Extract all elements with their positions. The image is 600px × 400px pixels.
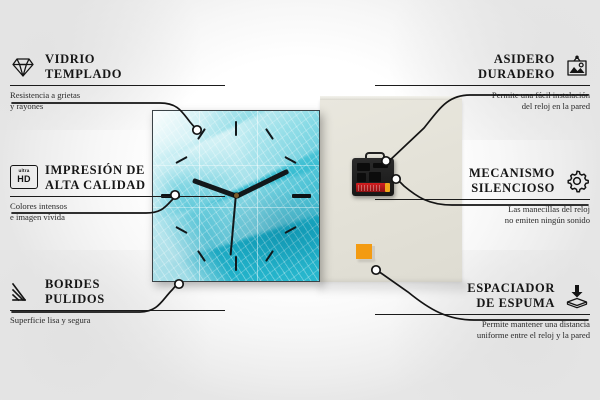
feature-subtitle: Resistencia a grietas y rayones bbox=[10, 90, 225, 112]
clock-center-hub bbox=[234, 193, 239, 198]
clock-marker-12 bbox=[235, 121, 237, 136]
hd-badge-large: HD bbox=[17, 175, 31, 184]
feature-title: IMPRESIÓN DE ALTA CALIDAD bbox=[45, 163, 146, 192]
clock-marker-3 bbox=[292, 194, 311, 198]
feature-callout-impresion-alta-calidad: ultra HD IMPRESIÓN DE ALTA CALIDAD Color… bbox=[10, 163, 225, 223]
foam-spacer-pad bbox=[356, 244, 374, 261]
feature-subtitle: Permite mantener una distancia uniforme … bbox=[375, 319, 590, 341]
callout-rule bbox=[10, 310, 225, 311]
feature-title: BORDES PULIDOS bbox=[45, 277, 105, 306]
callout-rule bbox=[375, 85, 590, 86]
feature-callout-vidrio-templado: VIDRIO TEMPLADO Resistencia a grietas y … bbox=[10, 52, 225, 112]
feature-subtitle: Superficie lisa y segura bbox=[10, 315, 225, 326]
feature-callout-bordes-pulidos: BORDES PULIDOS Superficie lisa y segura bbox=[10, 277, 225, 326]
feature-title: MECANISMO SILENCIOSO bbox=[469, 166, 555, 195]
callout-rule bbox=[10, 196, 225, 197]
clock-marker-6 bbox=[235, 256, 237, 271]
callout-rule bbox=[375, 314, 590, 315]
feature-subtitle: Colores intensos e imagen vívida bbox=[10, 201, 225, 223]
gear-icon bbox=[564, 168, 590, 194]
feature-title: ASIDERO DURADERO bbox=[478, 52, 555, 81]
callout-rule bbox=[10, 85, 225, 86]
feature-subtitle: Las manecillas del reloj no emiten ningú… bbox=[375, 204, 590, 226]
diamond-icon bbox=[10, 54, 36, 80]
feature-callout-asidero-duradero: ASIDERO DURADERO Permite una fácil insta… bbox=[375, 52, 590, 112]
feature-title: VIDRIO TEMPLADO bbox=[45, 52, 122, 81]
picture-hanger-icon bbox=[564, 54, 590, 80]
feature-callout-mecanismo-silencioso: MECANISMO SILENCIOSO Las manecillas del … bbox=[375, 166, 590, 226]
feature-callout-espaciador-de-espuma: ESPACIADOR DE ESPUMA Permite mantener un… bbox=[375, 281, 590, 341]
polished-edges-icon bbox=[10, 279, 36, 305]
infographic-stage: VIDRIO TEMPLADO Resistencia a grietas y … bbox=[0, 0, 600, 400]
feature-title: ESPACIADOR DE ESPUMA bbox=[467, 281, 555, 310]
foam-spacer-icon bbox=[564, 283, 590, 309]
callout-rule bbox=[375, 199, 590, 200]
ultra-hd-icon: ultra HD bbox=[10, 165, 36, 191]
feature-subtitle: Permite una fácil instalación del reloj … bbox=[375, 90, 590, 112]
